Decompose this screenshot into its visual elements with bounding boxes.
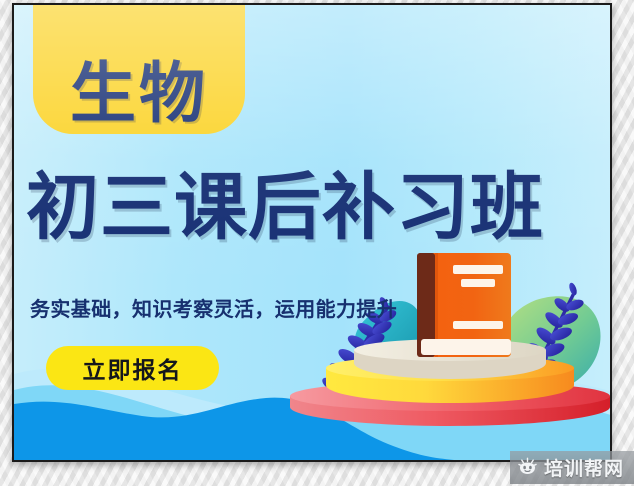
book-podium-illustration [284, 245, 612, 430]
sun-smiley-icon [517, 457, 538, 478]
book [417, 253, 511, 357]
subject-badge-label: 生物 [70, 61, 208, 127]
enroll-now-button[interactable]: 立即报名 [46, 346, 219, 390]
poster-canvas: 生物 初三课后补习班 务实基础，知识考察灵活，运用能力提升 立即报名 [12, 3, 612, 462]
subject-badge: 生物 [33, 3, 245, 134]
page-title: 初三课后补习班 [26, 171, 606, 244]
subtitle-text: 务实基础，知识考察灵活，运用能力提升 [30, 293, 397, 322]
watermark-text: 培训帮网 [544, 454, 624, 481]
watermark: 培训帮网 [510, 451, 634, 484]
screenshot-root: 生物 初三课后补习班 务实基础，知识考察灵活，运用能力提升 立即报名 培训帮网 [0, 0, 634, 486]
